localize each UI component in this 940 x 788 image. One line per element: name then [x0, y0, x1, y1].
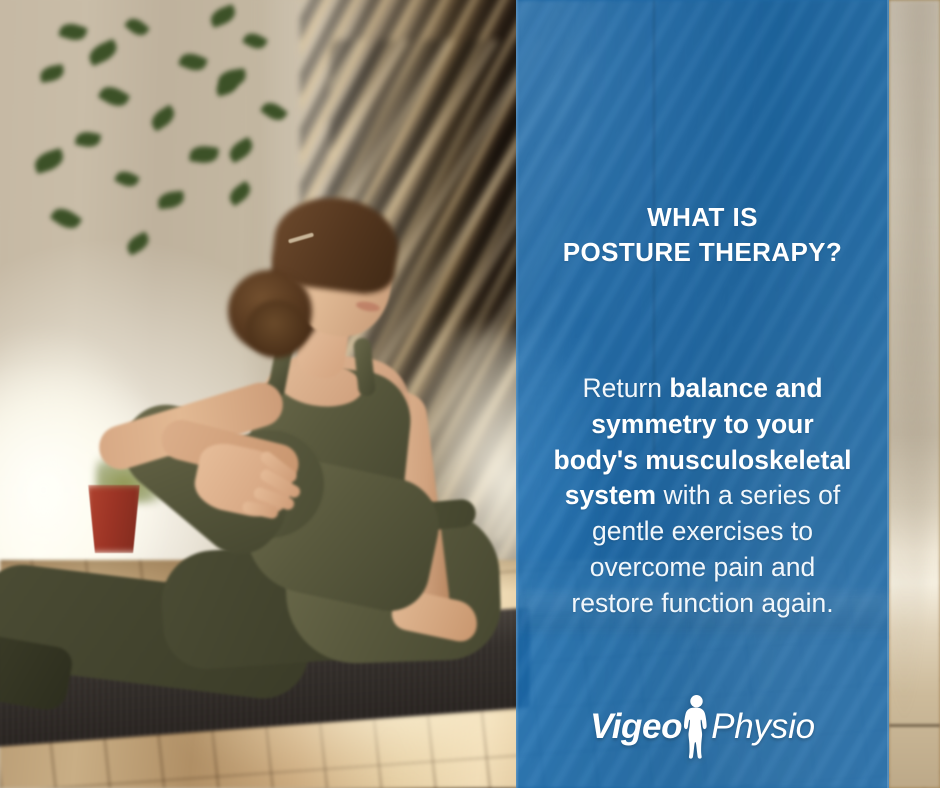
hair-bun-inner: [246, 300, 308, 358]
logo-word-physio: Physio: [711, 707, 815, 747]
person-stretching: [0, 0, 520, 788]
right-wall-floor-line: [889, 724, 940, 727]
right-wall-texture: [889, 0, 940, 788]
standing-person-silhouette-icon: [679, 694, 713, 760]
poster-canvas: WHAT IS POSTURE THERAPY? Return balance …: [0, 0, 940, 788]
brand-logo[interactable]: Vigeo Physio: [516, 694, 889, 760]
logo-word-vigeo: Vigeo: [590, 707, 682, 747]
headline-line-1: WHAT IS: [563, 200, 842, 235]
headline-line-2: POSTURE THERAPY?: [563, 235, 842, 270]
body-copy: Return balance and symmetry to your body…: [547, 371, 859, 622]
panel-content: WHAT IS POSTURE THERAPY? Return balance …: [516, 0, 889, 788]
headline: WHAT IS POSTURE THERAPY?: [563, 200, 842, 271]
blue-content-panel: WHAT IS POSTURE THERAPY? Return balance …: [516, 0, 889, 788]
body-copy-part-1: Return: [582, 373, 669, 403]
